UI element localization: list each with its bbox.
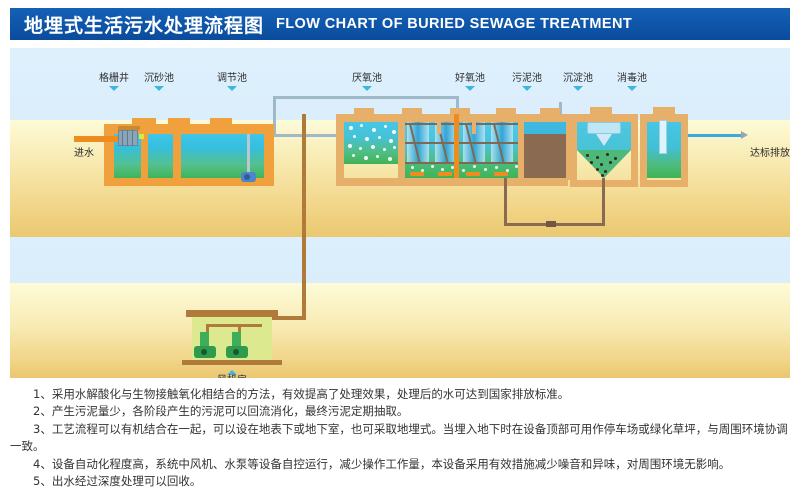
grille-screen <box>118 130 138 146</box>
pipe-sewage-overhead <box>273 96 459 99</box>
pipe-air-vertical <box>302 114 306 319</box>
tank-divider-aerobic-1 <box>437 114 441 134</box>
sludge-supernatant <box>524 122 568 134</box>
access-hatch-3 <box>210 118 232 126</box>
tank-wall-settle-left <box>570 114 577 186</box>
uv-dosing-tube <box>659 120 667 154</box>
label-outlet: 达标排放 <box>750 144 790 159</box>
tank-divider-2 <box>173 124 181 184</box>
caret-down-icon <box>154 86 164 91</box>
access-hatch-2 <box>168 118 190 126</box>
caret-down-icon <box>573 86 583 91</box>
aerobic-water-body <box>405 122 523 178</box>
access-hatch-1 <box>132 118 156 126</box>
tank-divider-1 <box>141 124 148 178</box>
settle-deflector-cone <box>596 134 612 146</box>
tank-wall-settle-right <box>631 114 638 186</box>
tank-divider-aerobic-2 <box>472 114 476 134</box>
blower-motor-icon-2 <box>233 349 239 355</box>
pump-riser-pipe <box>247 134 250 174</box>
notes-block: 1、采用水解酸化与生物接触氧化相结合的方法，有效提高了处理效果，处理后的水可达到… <box>10 386 792 491</box>
tank-floor-disinfect <box>640 180 688 187</box>
background-band-sky-lower <box>10 237 790 283</box>
pipe-air-riser-aerobic <box>454 114 459 178</box>
access-hatch-5 <box>402 108 422 115</box>
access-hatch-6 <box>450 108 470 115</box>
label-grille-well: 格栅井 <box>92 74 136 91</box>
access-hatch-8 <box>540 108 560 115</box>
caret-down-icon <box>109 86 119 91</box>
sludge-valve-icon <box>546 221 556 227</box>
access-hatch-4 <box>354 108 374 115</box>
note-line: 1、采用水解酸化与生物接触氧化相结合的方法，有效提高了处理效果，处理后的水可达到… <box>10 386 792 403</box>
caret-down-icon <box>362 86 372 91</box>
tank-wall-top-settle <box>570 114 638 122</box>
label-blower-room: 风机房 <box>210 370 254 378</box>
tank-wall-left-mid <box>336 114 344 186</box>
label-grit-chamber: 沉砂池 <box>137 74 181 91</box>
page-title-en: FLOW CHART OF BURIED SEWAGE TREATMENT <box>276 16 632 32</box>
outlet-arrow-icon <box>741 131 748 139</box>
access-hatch-7 <box>496 108 516 115</box>
grille-bar <box>132 130 133 146</box>
blower-motor-icon-1 <box>201 349 207 355</box>
grille-indicator <box>139 134 144 139</box>
label-sludge-tank: 污泥池 <box>505 74 549 91</box>
grille-frame <box>118 126 140 130</box>
pipe-inlet <box>74 136 118 142</box>
note-line: 2、产生污泥量少，各阶段产生的污泥可以回流消化，最终污泥定期抽取。 <box>10 403 792 420</box>
caret-down-icon <box>522 86 532 91</box>
blower-room-floor <box>182 360 282 365</box>
grille-bar <box>127 130 128 146</box>
tank-wall-top-mid <box>336 114 568 122</box>
access-hatch-disinfect <box>653 107 675 115</box>
settle-floc-layer <box>578 152 630 178</box>
label-sedimentation-tank: 沉淀池 <box>556 74 600 91</box>
label-regulating-tank: 调节池 <box>210 74 254 91</box>
grille-bar <box>122 130 123 146</box>
pipe-sludge-up-to-sludge-tank <box>504 178 507 226</box>
label-anaerobic-tank: 厌氧池 <box>345 74 389 91</box>
header-bar: 地埋式生活污水处理流程图 FLOW CHART OF BURIED SEWAGE… <box>10 8 790 40</box>
label-inlet: 进水 <box>74 144 94 159</box>
blower-room-roof <box>186 310 278 317</box>
pipe-outlet <box>688 134 744 137</box>
pipe-sludge-down-settle <box>602 178 605 226</box>
settle-feedwell <box>587 122 621 134</box>
label-aerobic-tank: 好氧池 <box>448 74 492 91</box>
background-band-soil-lower <box>10 283 790 378</box>
note-line: 5、出水经过深度处理可以回收。 <box>10 473 792 490</box>
sludge-body <box>524 134 568 178</box>
caret-down-icon <box>465 86 475 91</box>
tank-floor-mid <box>336 178 568 186</box>
note-line: 4、设备自动化程度高，系统中风机、水泵等设备自控运行，减少操作工作量，本设备采用… <box>10 456 792 473</box>
tank-wall-disinfect-left <box>640 114 647 186</box>
anaerobic-water-body <box>344 122 400 164</box>
process-diagram: 格栅井 沉砂池 调节池 厌氧池 好氧池 污泥池 沉淀池 消毒池 <box>10 48 790 378</box>
page-title-cn: 地埋式生活污水处理流程图 <box>24 11 264 38</box>
label-disinfection-tank: 消毒池 <box>610 74 654 91</box>
tank-wall-left-outer <box>104 124 114 186</box>
blower-manifold <box>206 324 262 327</box>
caret-down-icon <box>227 86 237 91</box>
page-root: 地埋式生活污水处理流程图 FLOW CHART OF BURIED SEWAGE… <box>0 0 800 500</box>
caret-down-icon <box>627 86 637 91</box>
pump-motor-icon <box>244 174 250 180</box>
note-line: 3、工艺流程可以有机结合在一起，可以设在地表下或地下室，也可采取地埋式。当埋入地… <box>10 421 792 456</box>
tank-divider-anaerobic <box>398 114 405 178</box>
tank-wall-disinfect-right <box>681 114 688 186</box>
access-hatch-settle <box>590 107 612 115</box>
tank-wall-right-outer <box>264 124 274 186</box>
